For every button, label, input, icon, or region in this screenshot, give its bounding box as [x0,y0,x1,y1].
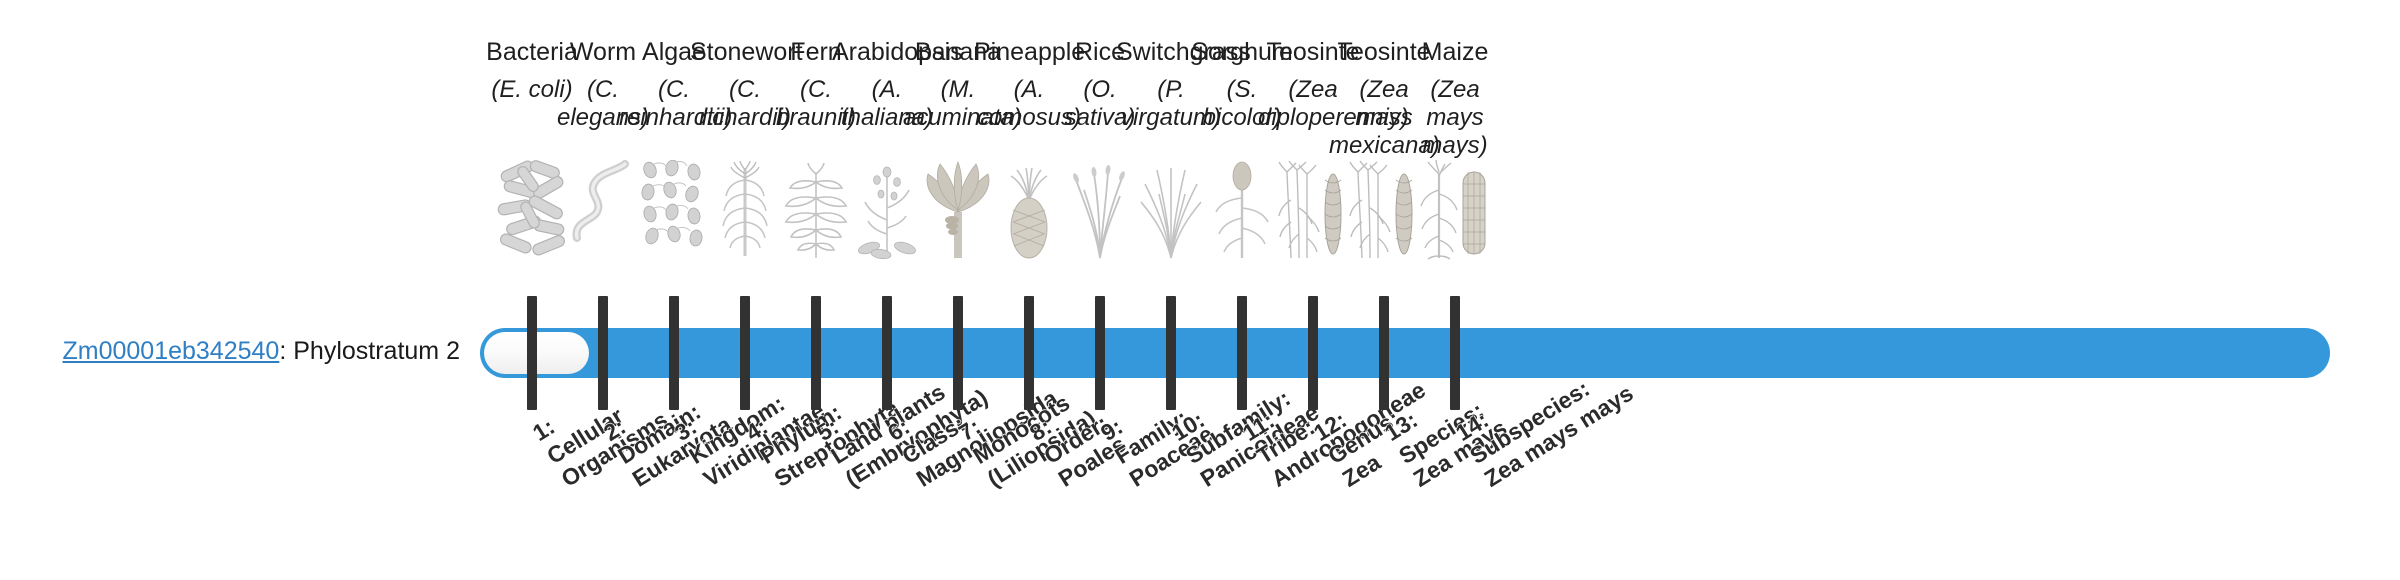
stratum-tick-mark [1166,296,1176,410]
stratum-tick-mark [1308,296,1318,410]
stratum-tick-mark [1237,296,1247,410]
stratum-tick-mark [740,296,750,410]
stratum-tick-mark [811,296,821,410]
stratum-tick-mark [527,296,537,410]
phylostratum-figure: Zm00001eb342540: Phylostratum 2 Bacteria… [0,0,2400,580]
gene-id-link[interactable]: Zm00001eb342540 [62,337,279,365]
maize-plant-cob-icon [1400,160,1510,260]
stratum-tick-mark [953,296,963,410]
stratum-tick-mark [1379,296,1389,410]
phylostratum-value-text: Phylostratum 2 [293,337,460,365]
stratum-tick-mark [1024,296,1034,410]
stratum-tick-mark [882,296,892,410]
gene-label-separator: : [279,337,293,365]
stratum-tick-mark [1095,296,1105,410]
stratum-tick-mark [1450,296,1460,410]
stratum-tick-mark [598,296,608,410]
gene-phylostratum-label: Zm00001eb342540: Phylostratum 2 [0,336,460,366]
species-common-name: Maize [1400,38,1510,67]
species-scientific-name: (Zea mays mays) [1400,76,1510,160]
species-columns: Bacteria(E. coli)1: Cellular OrganismsWo… [480,0,2330,580]
stratum-tick-mark [669,296,679,410]
